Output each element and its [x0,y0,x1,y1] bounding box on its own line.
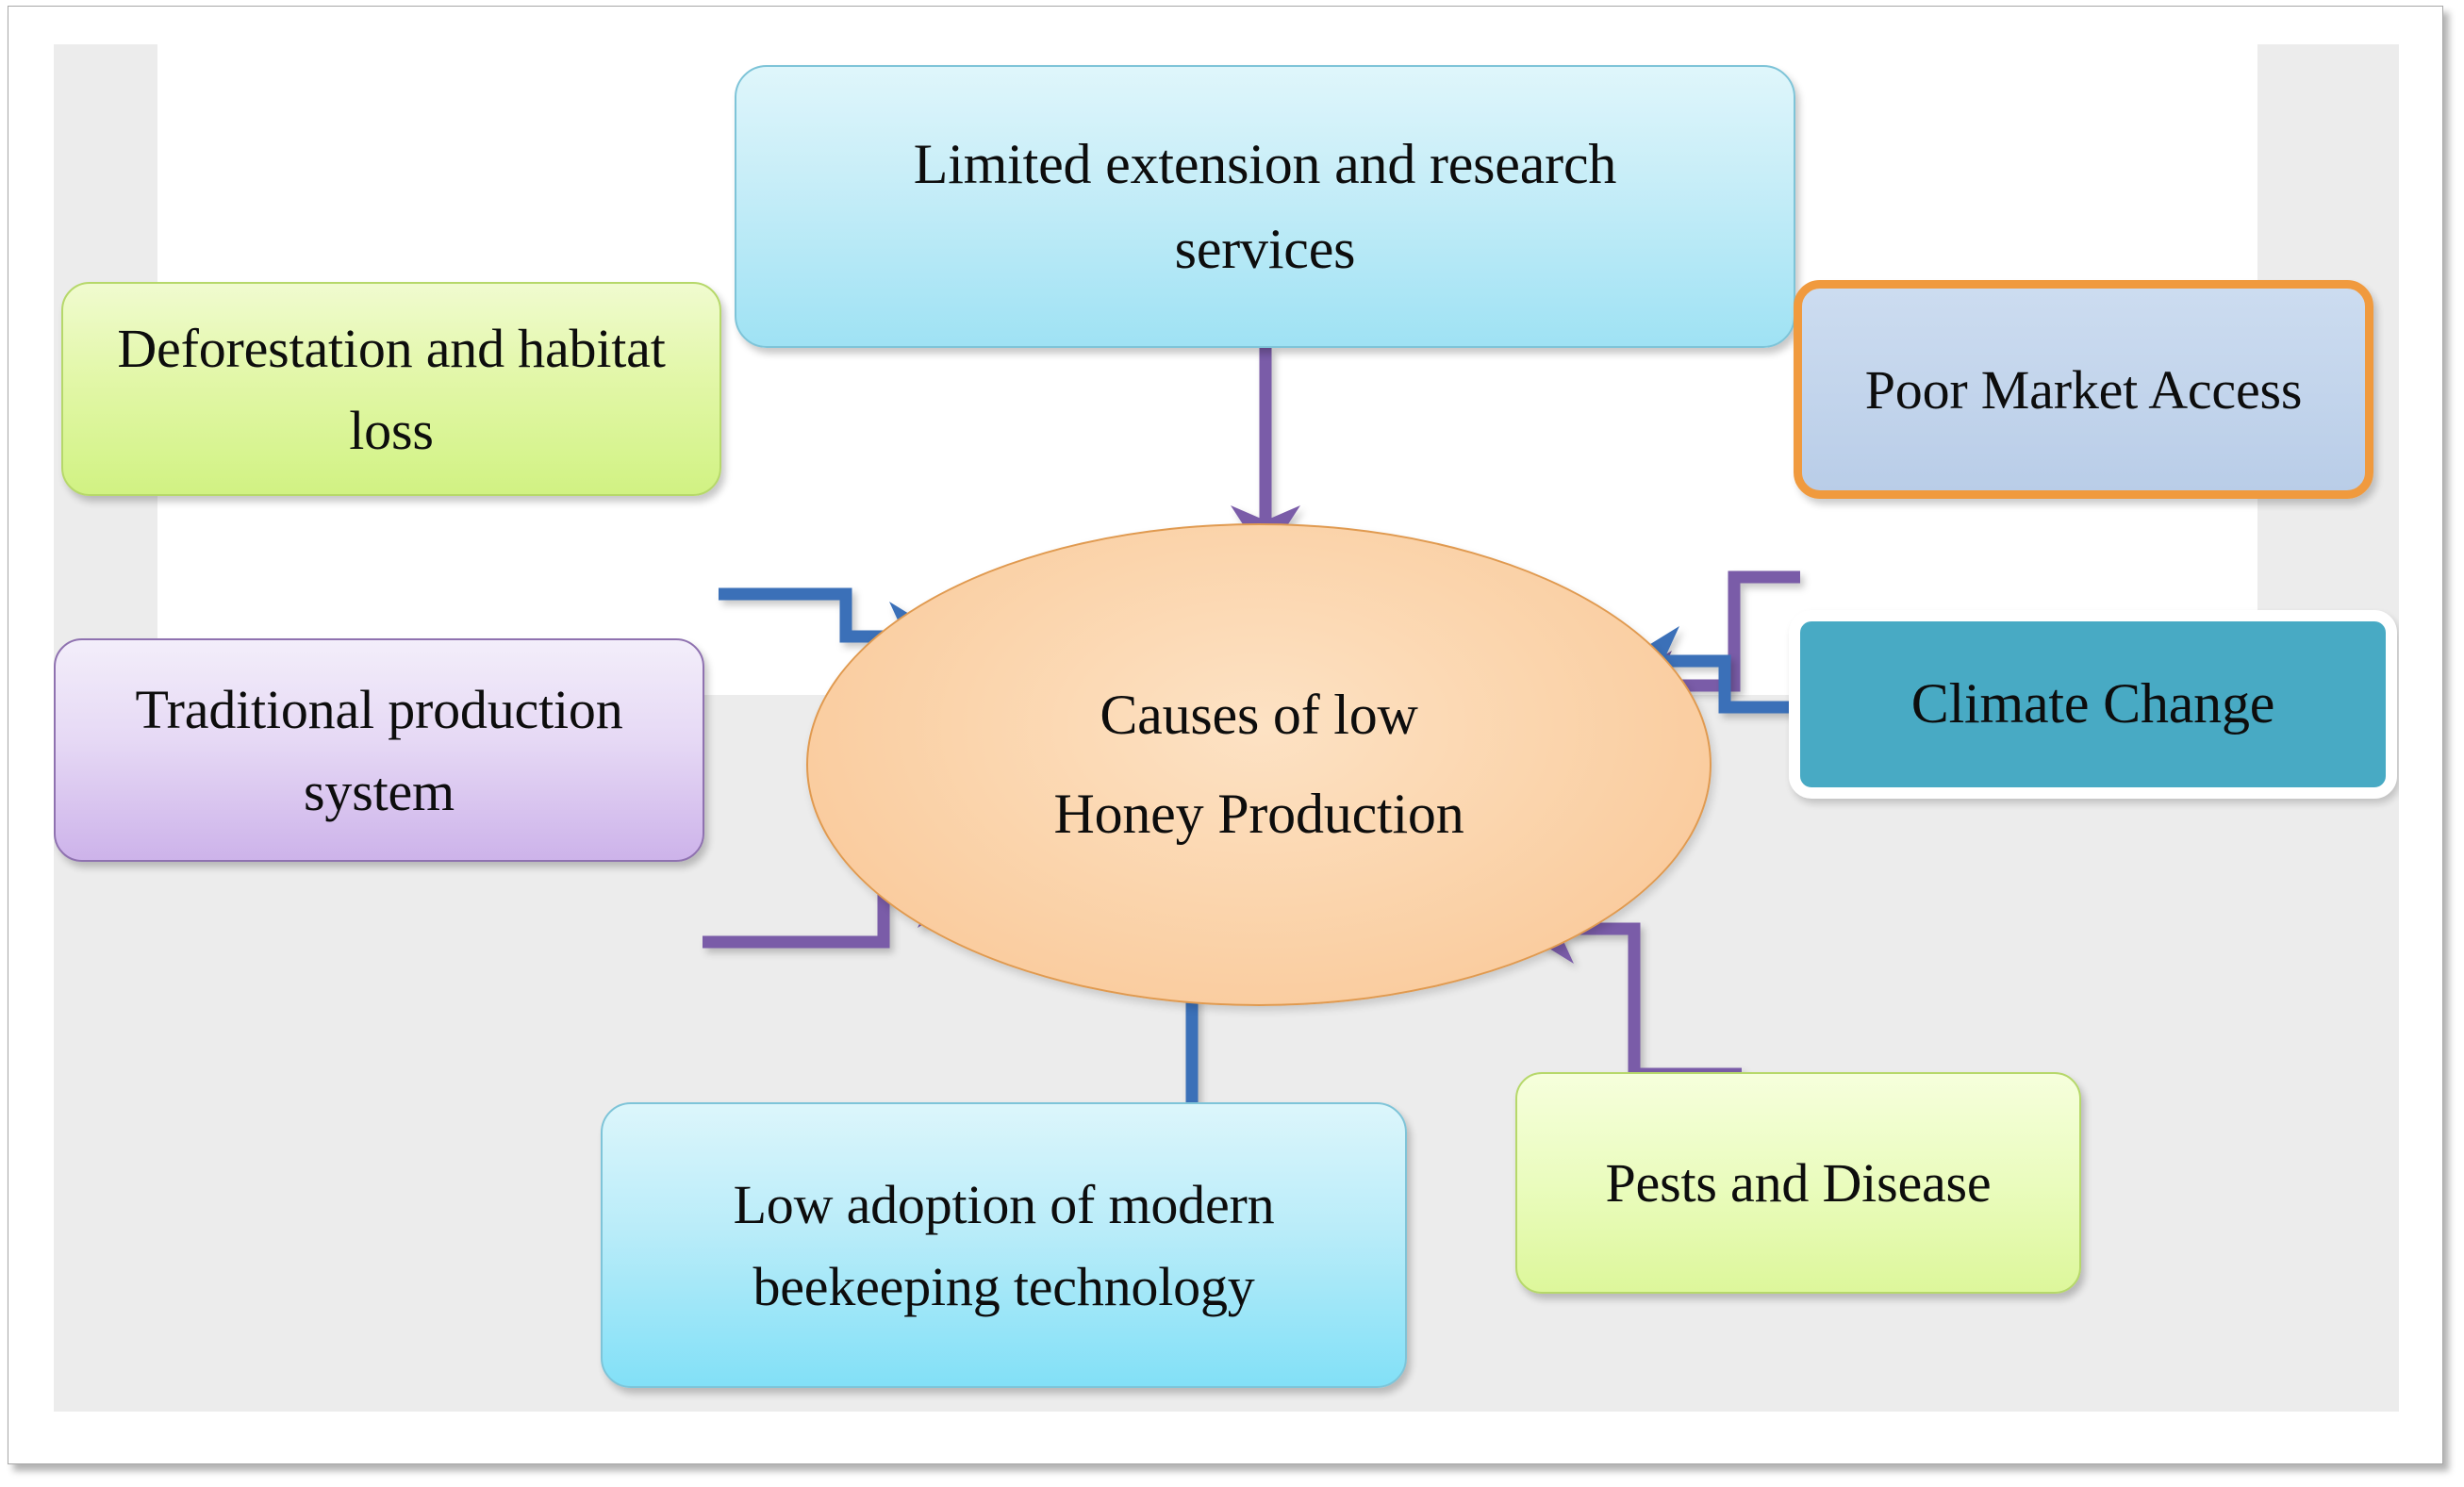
node-climate-change[interactable]: Climate Change [1789,610,2397,799]
node-label: Poor Market Access [1848,349,2320,431]
node-limited-extension-and-research-services[interactable]: Limited extension and research services [735,65,1795,348]
node-label: Climate Change [1902,667,2284,741]
node-label: Deforestation and habitat loss [63,307,719,471]
node-poor-market-access[interactable]: Poor Market Access [1794,280,2373,499]
node-pests-and-disease[interactable]: Pests and Disease [1515,1072,2081,1294]
node-low-adoption-of-modern-beekeeping-technology[interactable]: Low adoption of modern beekeeping techno… [601,1102,1407,1388]
center-node-label: Causes of low Honey Production [1040,666,1477,864]
center-node-line-1: Causes of low [1100,684,1417,746]
diagram-frame: Limited extension and research services … [8,6,2443,1464]
node-label: Pests and Disease [1583,1142,2014,1224]
center-node-line-2: Honey Production [1053,783,1464,845]
diagram-canvas: Limited extension and research services … [54,44,2399,1412]
node-traditional-production-system[interactable]: Traditional production system [54,638,704,862]
node-label: Limited extension and research services [736,122,1794,291]
node-causes-of-low-honey-production[interactable]: Causes of low Honey Production [806,523,1712,1006]
node-label: Traditional production system [56,669,703,833]
node-label: Low adoption of modern beekeeping techno… [603,1164,1405,1328]
node-deforestation-and-habitat-loss[interactable]: Deforestation and habitat loss [61,282,721,496]
